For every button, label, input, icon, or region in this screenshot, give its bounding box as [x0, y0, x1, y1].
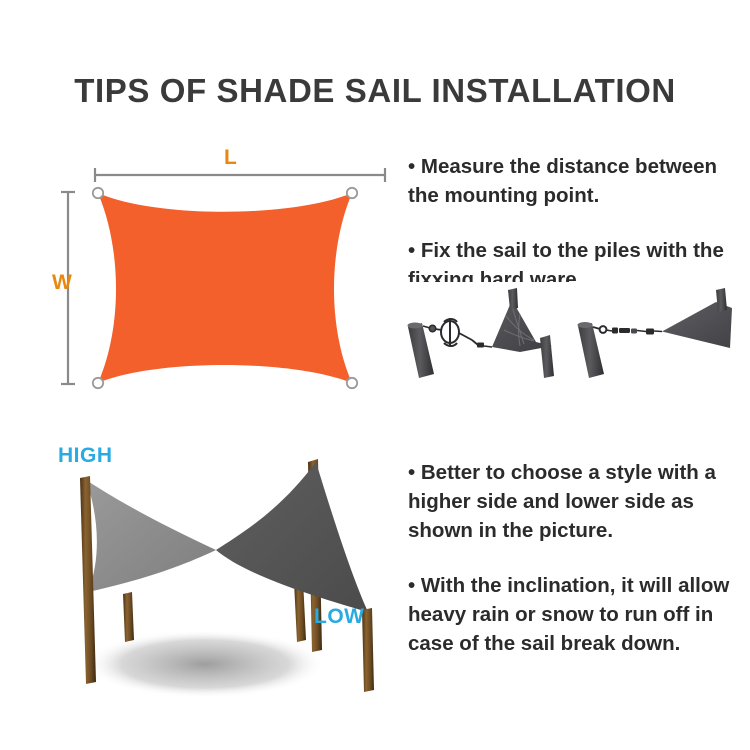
tip-line: heavy rain or snow to run off in [408, 600, 750, 629]
length-label: L [224, 146, 237, 170]
tip-line: • Fix the sail to the piles with the [408, 236, 750, 265]
tip-line: case of the sail break down. [408, 629, 750, 658]
page-title: TIPS OF SHADE SAIL INSTALLATION [0, 72, 750, 110]
shade-sail-light [86, 480, 216, 592]
tip-line: • Measure the distance between [408, 152, 750, 181]
tip-inclination-runoff: • With the inclination, it will allow he… [408, 571, 750, 658]
low-label: LOW [314, 605, 364, 629]
shade-sail-dark [216, 462, 368, 612]
tip-line: higher side and lower side as [408, 487, 750, 516]
chain-connector [593, 326, 662, 334]
shackle-connector [423, 325, 436, 331]
shade-sail-dimension-diagram: L W [40, 140, 410, 405]
tip-line: shown in the picture. [408, 516, 750, 545]
fixing-hardware-illustrations [400, 282, 750, 378]
support-post-right [540, 335, 554, 378]
tip-choose-style: • Better to choose a style with a higher… [408, 458, 750, 545]
connecting-cable [472, 340, 492, 348]
ground-shadow [85, 630, 325, 698]
shade-sail-svg [40, 140, 410, 405]
high-low-canopy-diagram: HIGH LOW [30, 432, 410, 722]
tip-fix-sail-to-piles: • Fix the sail to the piles with the fix… [408, 236, 750, 282]
grommet-bottom-left [93, 378, 103, 388]
tip-line: • With the inclination, it will allow [408, 571, 750, 600]
tips-text-top: • Measure the distance between the mount… [408, 152, 750, 282]
tip-line: fixxing hard ware. [408, 265, 750, 282]
tip-measure-distance: • Measure the distance between the mount… [408, 152, 750, 210]
hardware-illustration-chain [570, 282, 750, 378]
canopy-scene-svg [30, 432, 410, 722]
hardware-illustration-turnbuckle [400, 282, 570, 378]
sail-body [98, 193, 352, 383]
tips-text-bottom: • Better to choose a style with a higher… [408, 458, 750, 658]
length-dimension-line [95, 168, 385, 182]
turnbuckle [435, 318, 472, 346]
grommet-bottom-right [347, 378, 357, 388]
tip-line: the mounting point. [408, 181, 750, 210]
high-label: HIGH [58, 444, 113, 468]
width-label: W [52, 271, 72, 295]
infographic-page: TIPS OF SHADE SAIL INSTALLATION [0, 0, 750, 750]
tip-line: • Better to choose a style with a [408, 458, 750, 487]
grommet-top-right [347, 188, 357, 198]
grommet-top-left [93, 188, 103, 198]
post-mid-left [123, 592, 134, 642]
